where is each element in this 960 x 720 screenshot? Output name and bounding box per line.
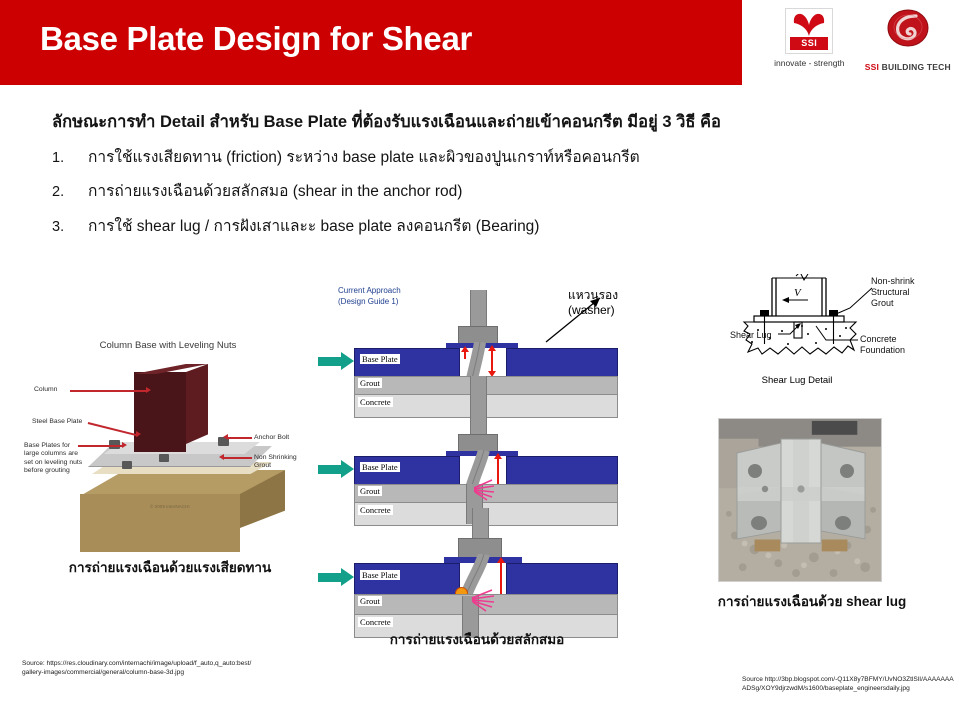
page-title: Base Plate Design for Shear — [40, 20, 472, 58]
current-approach-note: Current Approach (Design Guide 1) — [338, 286, 401, 308]
label-base-plates-note: Base Plates for large columns are set on… — [24, 442, 84, 475]
bearing-mark-1-head — [461, 346, 469, 352]
shear-lug-casting — [725, 431, 877, 559]
tulip-icon — [786, 11, 832, 37]
base-plate-1-right — [506, 348, 618, 378]
concrete-3-label: Concrete — [358, 617, 393, 627]
ssi-logo-text: SSI — [790, 37, 828, 50]
ssi-building-tech-logo: SSI BUILDING TECH — [861, 8, 955, 72]
lead-paragraph: ลักษณะการทำ Detail สำหรับ Base Plate ที่… — [52, 113, 932, 133]
method-list: 1. การใช้แรงเสียดทาน (friction) ระหว่าง … — [52, 148, 912, 251]
list-item-number: 3. — [52, 218, 88, 236]
list-item-number: 2. — [52, 183, 88, 201]
shear-lug-detail-title: Shear Lug Detail — [722, 375, 872, 386]
leader-steel-base-plate — [88, 422, 139, 436]
deflection-arrow-1 — [491, 350, 493, 372]
base-plate-3-right — [506, 563, 618, 596]
leader-column — [70, 390, 148, 392]
list-item-text: การใช้แรงเสียดทาน (friction) ระหว่าง bas… — [88, 148, 912, 167]
leader-non-shrink-grout — [828, 286, 876, 322]
ssi-logo-tagline: innovate - strength — [770, 58, 849, 68]
leader-sbp-head — [136, 431, 141, 437]
label-column: Column — [34, 386, 57, 394]
anchor-panel-1: Base Plate Grout Concrete — [354, 312, 616, 412]
pedestal-front — [80, 494, 240, 552]
grout-2-label: Grout — [358, 486, 382, 496]
note-line-1: Current Approach — [338, 286, 401, 295]
leader-concrete-foundation — [802, 318, 862, 344]
list-item-text: การถ่ายแรงเฉือนด้วยสลักสมอ (shear in the… — [88, 182, 912, 201]
concrete-2-label: Concrete — [358, 505, 393, 515]
list-item-number: 1. — [52, 149, 88, 167]
logo-zone: SSI innovate - strength SSI BUILDING TEC… — [770, 8, 955, 78]
grout-3-label: Grout — [358, 596, 382, 606]
swirl-icon — [886, 8, 930, 52]
source-right: Source http://3bp.blogspot.com/-Q11X8y7B… — [742, 676, 958, 694]
base-plate-2-right — [506, 456, 618, 486]
tech-suffix: BUILDING TECH — [879, 62, 951, 72]
leader-base-plates-note — [78, 445, 124, 447]
base-plate-2-label: Base Plate — [360, 462, 400, 472]
tech-prefix: SSI — [865, 62, 879, 72]
crushing-burst-3 — [468, 586, 506, 612]
svg-text:V: V — [794, 287, 802, 299]
steel-column-side — [186, 364, 208, 444]
figure-column-base-3d: Column Base with Leveling Nuts Column St… — [22, 334, 314, 554]
deflection-arrow-2-up — [494, 453, 502, 459]
figure-anchor-rod-shear: Current Approach (Design Guide 1) แหวนรอ… — [336, 284, 636, 624]
base-plate-3-label: Base Plate — [360, 570, 400, 580]
shear-arrow-3 — [318, 568, 356, 587]
list-item: 3. การใช้ shear lug / การฝังเสาและะ base… — [52, 217, 912, 236]
source-left: Source: https://res.cloudinary.com/inter… — [22, 660, 252, 678]
list-item: 2. การถ่ายแรงเฉือนด้วยสลักสมอ (shear in … — [52, 182, 912, 201]
base-plate-1-label: Base Plate — [360, 354, 400, 364]
label-steel-base-plate: Steel Base Plate — [32, 418, 82, 426]
ssi-building-tech-caption: SSI BUILDING TECH — [861, 62, 955, 72]
deflection-arrow-3-up — [497, 557, 505, 563]
list-item: 1. การใช้แรงเสียดทาน (friction) ระหว่าง … — [52, 148, 912, 167]
ssi-logo: SSI innovate - strength — [770, 8, 849, 68]
label-non-shrink-grout: Non-shrink Structural Grout — [871, 276, 915, 309]
steel-column-front — [134, 372, 186, 452]
leader-column-head — [146, 387, 151, 393]
label-anchor-bolt: Anchor Bolt — [254, 434, 289, 442]
caption-friction: การถ่ายแรงเฉือนด้วยแรงเสียดทาน — [55, 560, 285, 577]
shear-arrow-1 — [318, 352, 356, 371]
leader-grout-head — [219, 454, 224, 460]
caption-anchor-rod: การถ่ายแรงเฉือนด้วยสลักสมอ — [352, 632, 602, 649]
grout-1-label: Grout — [358, 378, 382, 388]
photo-frame — [718, 418, 882, 582]
leader-bpn-head — [122, 442, 127, 448]
anchor-panel-3: Base Plate Grout Concrete — [354, 530, 616, 630]
figure-shear-lug-detail: V Non-shrink Structural Grout Shear Lug … — [728, 272, 946, 390]
note-line-2: (Design Guide 1) — [338, 297, 398, 306]
concrete-1-label: Concrete — [358, 397, 393, 407]
label-non-shrinking-grout: Non Shrinking Grout — [254, 454, 314, 471]
label-concrete-foundation: Concrete Foundation — [860, 334, 905, 356]
list-item-text: การใช้ shear lug / การฝังเสาและะ base pl… — [88, 217, 912, 236]
figure-left-title: Column Base with Leveling Nuts — [22, 340, 314, 351]
leader-anchor-bolt — [228, 437, 252, 439]
leader-ab-head — [223, 434, 228, 440]
anchor-bolt-mid — [159, 454, 169, 462]
label-shear-lug: Shear Lug — [730, 330, 772, 341]
shear-arrow-2 — [318, 460, 356, 479]
caption-shear-lug: การถ่ายแรงเฉือนด้วย shear lug — [700, 594, 924, 611]
watermark-text: © 2009 InterNACHI — [150, 504, 190, 509]
crushing-burst-2 — [470, 476, 506, 502]
deflection-arrow-1-up — [488, 345, 496, 351]
ssi-logo-mark: SSI — [785, 8, 833, 54]
leader-grout — [224, 457, 252, 459]
figure-shear-lug-photo — [718, 418, 882, 582]
anchor-bolt-front — [122, 461, 132, 469]
